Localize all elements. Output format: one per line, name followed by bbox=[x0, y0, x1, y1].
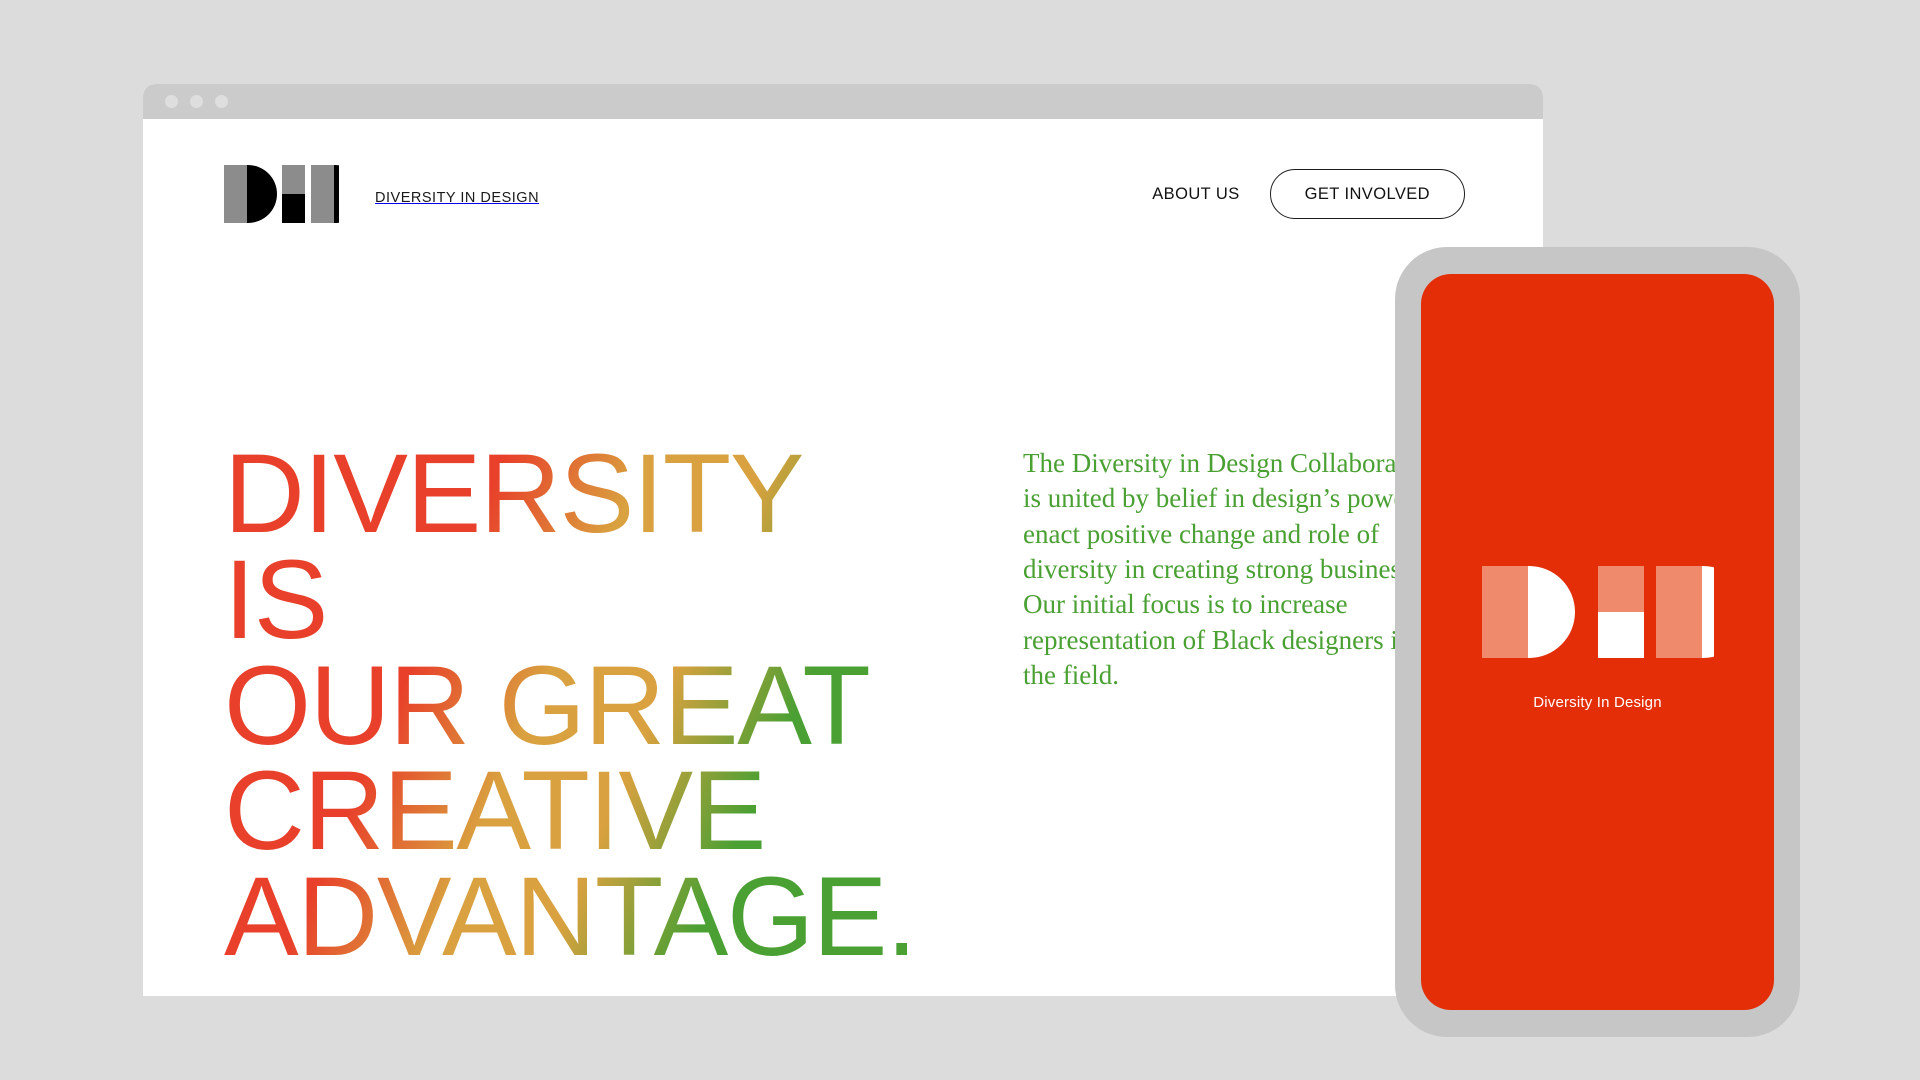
minimize-dot[interactable] bbox=[190, 95, 203, 108]
phone-device: Diversity In Design bbox=[1395, 247, 1800, 1037]
did-logo-icon bbox=[224, 165, 339, 223]
hero-body-paragraph: The Diversity in Design Collaborative is… bbox=[1023, 446, 1443, 694]
did-logo-icon bbox=[1482, 566, 1714, 658]
phone-screen: Diversity In Design bbox=[1421, 274, 1774, 1010]
hero-section: DIVERSITY IS OUR GREAT CREATIVE ADVANTAG… bbox=[143, 269, 1543, 970]
browser-viewport: DIVERSITY IN DESIGN ABOUT US GET INVOLVE… bbox=[143, 119, 1543, 996]
nav-get-involved[interactable]: GET INVOLVED bbox=[1270, 169, 1465, 220]
headline-line-4: ADVANTAGE. bbox=[224, 864, 924, 970]
headline-line-2: OUR GREAT bbox=[224, 653, 924, 759]
site-header: DIVERSITY IN DESIGN ABOUT US GET INVOLVE… bbox=[143, 119, 1543, 269]
phone-logo-wrap: Diversity In Design bbox=[1482, 566, 1714, 711]
nav-about-us[interactable]: ABOUT US bbox=[1148, 179, 1243, 210]
brand-wordmark: DIVERSITY IN DESIGN bbox=[375, 190, 539, 206]
browser-window: DIVERSITY IN DESIGN ABOUT US GET INVOLVE… bbox=[143, 84, 1543, 996]
maximize-dot[interactable] bbox=[215, 95, 228, 108]
headline-line-1: DIVERSITY IS bbox=[224, 441, 924, 653]
headline-line-3: CREATIVE bbox=[224, 758, 924, 864]
browser-titlebar[interactable] bbox=[143, 84, 1543, 119]
close-dot[interactable] bbox=[165, 95, 178, 108]
hero-headline: DIVERSITY IS OUR GREAT CREATIVE ADVANTAG… bbox=[224, 269, 924, 970]
mockup-stage: DIVERSITY IN DESIGN ABOUT US GET INVOLVE… bbox=[0, 0, 1920, 1080]
phone-caption: Diversity In Design bbox=[1533, 694, 1661, 711]
brand-lockup[interactable]: DIVERSITY IN DESIGN bbox=[224, 165, 539, 223]
site-nav: ABOUT US GET INVOLVED bbox=[1148, 169, 1465, 220]
